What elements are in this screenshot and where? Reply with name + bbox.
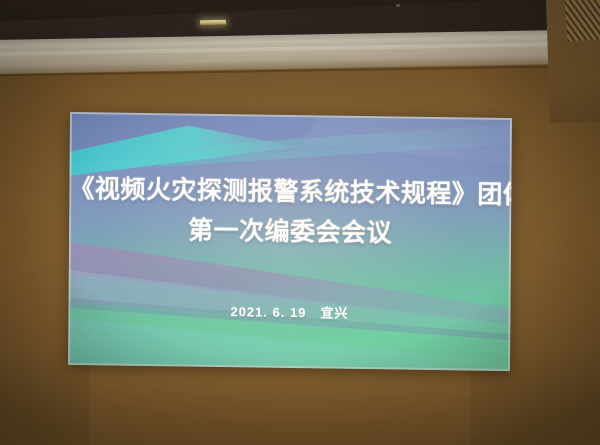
ceiling-vent-grille-icon [565,0,600,42]
slide-title-line-2: 第一次编委会会议 [69,209,511,251]
presentation-slide: 《视频火灾探测报警系统技术规程》团体标准 第一次编委会会议 2021. 6. 1… [68,112,512,371]
conference-room-photo: 《视频火灾探测报警系统技术规程》团体标准 第一次编委会会议 2021. 6. 1… [0,0,600,445]
ceiling-recess-inner [0,0,541,22]
projection-screen: 《视频火灾探测报警系统技术规程》团体标准 第一次编委会会议 2021. 6. 1… [68,112,512,371]
slide-title-line-1: 《视频火灾探测报警系统技术规程》团体标准 [69,169,511,211]
ceiling-sensor-dot [396,4,400,7]
ceiling-light-strip [200,20,226,25]
